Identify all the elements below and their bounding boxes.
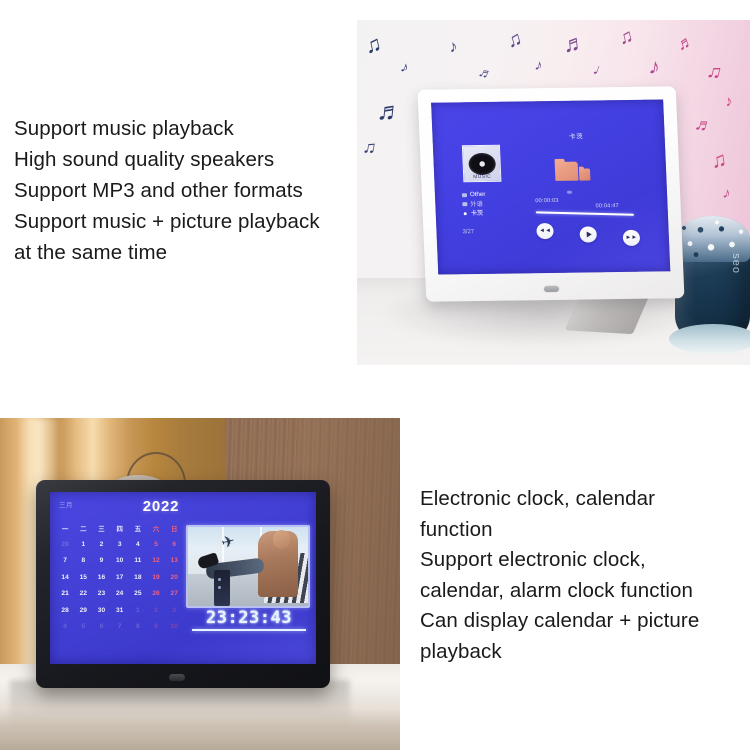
calendar-day-cell[interactable]: 18 (129, 574, 147, 581)
music-note-icon: ♫ (710, 149, 729, 172)
calendar-year-label: 2022 (50, 498, 316, 515)
clock-feature-line-3: Support electronic clock, (420, 545, 699, 576)
slideshow-photo: ✈ (186, 525, 310, 608)
calendar-day-cell[interactable]: 14 (56, 574, 74, 581)
calendar-day-today[interactable]: 21 (56, 590, 74, 597)
calendar-day-cell[interactable]: 17 (111, 574, 129, 581)
calendar-clock-screen: 三月 2022 一二三四五六日2812345678910111213141516… (50, 492, 316, 664)
calendar-week-row: 28293031123 (56, 602, 184, 618)
calendar-day-cell[interactable]: 28 (56, 541, 74, 548)
calendar-day-cell[interactable]: 13 (165, 557, 183, 564)
calendar-week-row: 45678910 (56, 618, 184, 634)
speaker-base (669, 324, 750, 354)
folder-icon (579, 168, 591, 180)
folder-icons-group (552, 159, 599, 186)
speaker-brand-label: seo (730, 253, 742, 274)
traveler-head (273, 530, 290, 549)
calendar-weekday-header: 三 (92, 524, 110, 533)
infrared-sensor (544, 286, 559, 292)
calendar-day-cell[interactable]: 1 (129, 607, 147, 614)
total-time-label: 00:04:47 (595, 203, 619, 209)
calendar-day-cell[interactable]: 5 (147, 541, 165, 548)
music-product-photo: ♫ ♪ ♬ ♩ ♫ ♪ ♬ ♫ ♪ ♬ ♩ ♫ ♪ ♬ ♫ ♪ ♬ ♩ ♫ ♪ … (357, 20, 750, 365)
folder-icon (555, 162, 579, 181)
calendar-day-cell[interactable]: 2 (92, 541, 110, 548)
calendar-day-cell[interactable]: 7 (56, 557, 74, 564)
music-note-icon: ♬ (562, 31, 587, 56)
calendar-day-cell[interactable]: 28 (56, 607, 74, 614)
calendar-day-cell[interactable]: 30 (92, 607, 110, 614)
black-digital-photo-frame: 三月 2022 一二三四五六日2812345678910111213141516… (36, 480, 330, 688)
luggage-item (214, 570, 230, 606)
calendar-weekday-header: 日 (165, 524, 183, 533)
vinyl-record-icon (468, 152, 496, 174)
calendar-day-cell[interactable]: 20 (165, 574, 183, 581)
music-feature-line-4: Support music + picture playback (14, 206, 320, 237)
white-digital-photo-frame: MUSIC Other 外语 卡茨 3/27 卡茨 00:00:03 00:04… (418, 86, 685, 301)
track-list-item[interactable]: 外语 (461, 200, 486, 210)
calendar-day-cell[interactable]: 3 (165, 607, 183, 614)
calendar-day-cell[interactable]: 8 (74, 557, 92, 564)
calendar-weekday-header: 四 (111, 524, 129, 533)
clock-feature-line-6: playback (420, 637, 699, 668)
next-track-button[interactable]: ►► (623, 230, 641, 246)
calendar-day-cell[interactable]: 19 (147, 574, 165, 581)
calendar-day-cell[interactable]: 7 (111, 623, 129, 630)
calendar-day-cell[interactable]: 22 (74, 590, 92, 597)
calendar-day-cell[interactable]: 4 (56, 623, 74, 630)
play-icon (586, 231, 591, 237)
calendar-day-cell[interactable]: 25 (129, 590, 147, 597)
calendar-day-cell[interactable]: 6 (92, 623, 110, 630)
calendar-day-cell[interactable]: 4 (129, 541, 147, 548)
calendar-week-row: 28123456 (56, 536, 184, 552)
previous-icon: ◄◄ (539, 228, 551, 234)
calendar-day-cell[interactable]: 31 (111, 607, 129, 614)
music-feature-line-1: Support music playback (14, 113, 320, 144)
calendar-grid[interactable]: 一二三四五六日281234567891011121314151617181920… (56, 520, 184, 635)
elapsed-time-label: 00:00:03 (535, 198, 559, 204)
track-count-label: 3/27 (462, 229, 474, 235)
calendar-day-cell[interactable]: 3 (111, 541, 129, 548)
calendar-day-cell[interactable]: 27 (165, 590, 183, 597)
calendar-day-cell[interactable]: 8 (129, 623, 147, 630)
track-list-item[interactable]: 卡茨 (462, 209, 487, 219)
calendar-day-cell[interactable]: 16 (92, 574, 110, 581)
next-icon: ►► (625, 235, 637, 241)
calendar-weekday-header: 一 (56, 524, 74, 533)
play-button[interactable] (579, 226, 597, 242)
calendar-weekday-header: 五 (129, 524, 147, 533)
track-list-item[interactable]: Other (461, 190, 486, 200)
calendar-weekday-header: 二 (74, 524, 92, 533)
bluetooth-speaker: seo (675, 216, 750, 344)
calendar-day-cell[interactable]: 2 (147, 607, 165, 614)
digital-clock-display: 23:23:43 (190, 608, 308, 628)
calendar-day-cell[interactable]: 15 (74, 574, 92, 581)
music-feature-line-2: High sound quality speakers (14, 144, 320, 175)
equalizer-indicator (567, 191, 572, 194)
playback-progress-bar[interactable] (536, 211, 634, 216)
calendar-day-cell[interactable]: 23 (92, 590, 110, 597)
album-art-caption: MUSIC (464, 174, 500, 180)
clock-underline (192, 629, 306, 631)
calendar-week-row: 78910111213 (56, 553, 184, 569)
calendar-day-cell[interactable]: 6 (165, 541, 183, 548)
music-feature-line-5: at the same time (14, 237, 320, 268)
calendar-week-row: 14151617181920 (56, 569, 184, 585)
calendar-day-cell[interactable]: 10 (165, 623, 183, 630)
music-note-icon: ♬ (376, 97, 405, 126)
music-feature-line-3: Support MP3 and other formats (14, 175, 320, 206)
calendar-day-cell[interactable]: 26 (147, 590, 165, 597)
now-playing-title: 卡茨 (432, 129, 664, 142)
previous-track-button[interactable]: ◄◄ (536, 223, 554, 239)
clock-feature-line-5: Can display calendar + picture (420, 606, 699, 637)
calendar-product-photo: 三月 2022 一二三四五六日2812345678910111213141516… (0, 418, 400, 750)
clock-feature-line-1: Electronic clock, calendar (420, 484, 699, 515)
track-list[interactable]: Other 外语 卡茨 (461, 190, 487, 219)
calendar-day-cell[interactable]: 24 (111, 590, 129, 597)
calendar-day-cell[interactable]: 12 (147, 557, 165, 564)
clock-feature-line-4: calendar, alarm clock function (420, 576, 699, 607)
music-feature-text-block: Support music playback High sound qualit… (14, 113, 320, 268)
calendar-weekday-header: 六 (147, 524, 165, 533)
calendar-day-cell[interactable]: 10 (111, 557, 129, 564)
clock-feature-line-2: function (420, 515, 699, 546)
calendar-day-cell[interactable]: 9 (147, 623, 165, 630)
music-player-screen: MUSIC Other 外语 卡茨 3/27 卡茨 00:00:03 00:04… (431, 99, 670, 274)
calendar-day-cell[interactable]: 29 (74, 607, 92, 614)
calendar-day-cell[interactable]: 5 (74, 623, 92, 630)
playback-controls: ◄◄ ►► (536, 222, 641, 245)
calendar-weekday-header-row: 一二三四五六日 (56, 520, 184, 536)
album-art-thumbnail[interactable]: MUSIC (462, 145, 502, 182)
clock-feature-text-block: Electronic clock, calendar function Supp… (420, 484, 699, 667)
calendar-week-row: 21222324252627 (56, 586, 184, 602)
calendar-day-cell[interactable]: 1 (74, 541, 92, 548)
calendar-day-cell[interactable]: 9 (92, 557, 110, 564)
infrared-sensor (169, 674, 185, 681)
calendar-day-cell[interactable]: 11 (129, 557, 147, 564)
